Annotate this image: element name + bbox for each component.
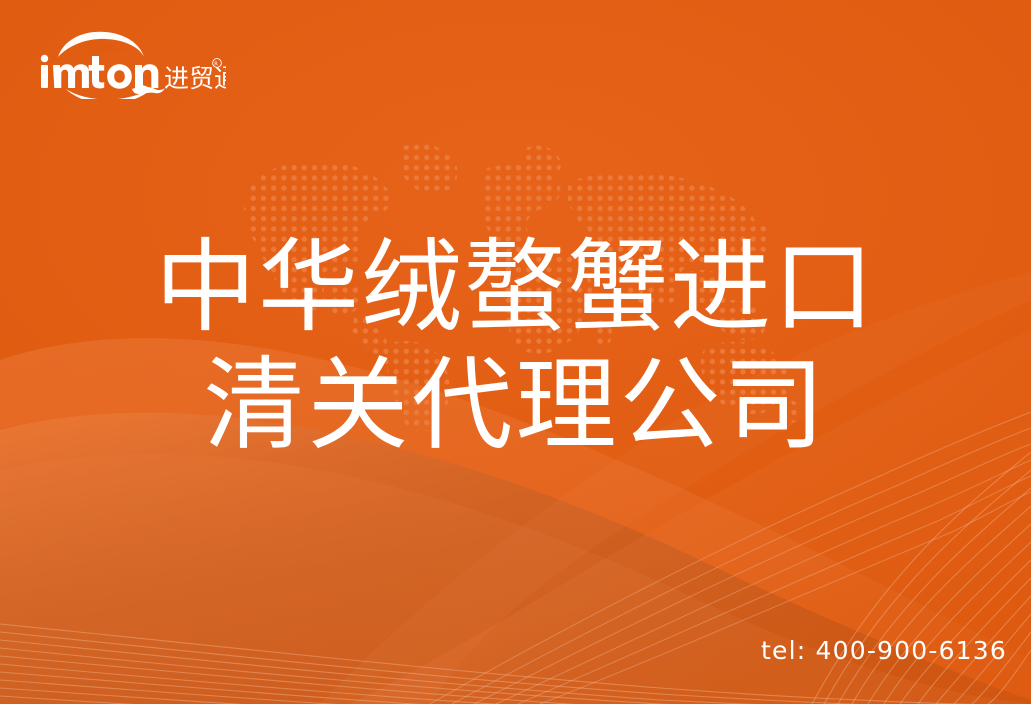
headline-line-1: 中华绒螯蟹进口: [0, 228, 1031, 346]
logo-chinese-name: 进贸通: [164, 64, 226, 93]
wordmark-imton: [41, 55, 158, 89]
headline-block: 中华绒螯蟹进口 清关代理公司: [0, 228, 1031, 464]
company-logo[interactable]: 进贸通 R: [36, 27, 226, 99]
marketing-banner: 进贸通 R 中华绒螯蟹进口 清关代理公司 tel: 400-900-6136: [0, 0, 1031, 704]
phone-number: tel: 400-900-6136: [761, 636, 1007, 666]
registered-trademark-glyph: R: [214, 62, 218, 68]
headline-line-2: 清关代理公司: [0, 346, 1031, 464]
globe-arc-icon: [58, 32, 144, 57]
